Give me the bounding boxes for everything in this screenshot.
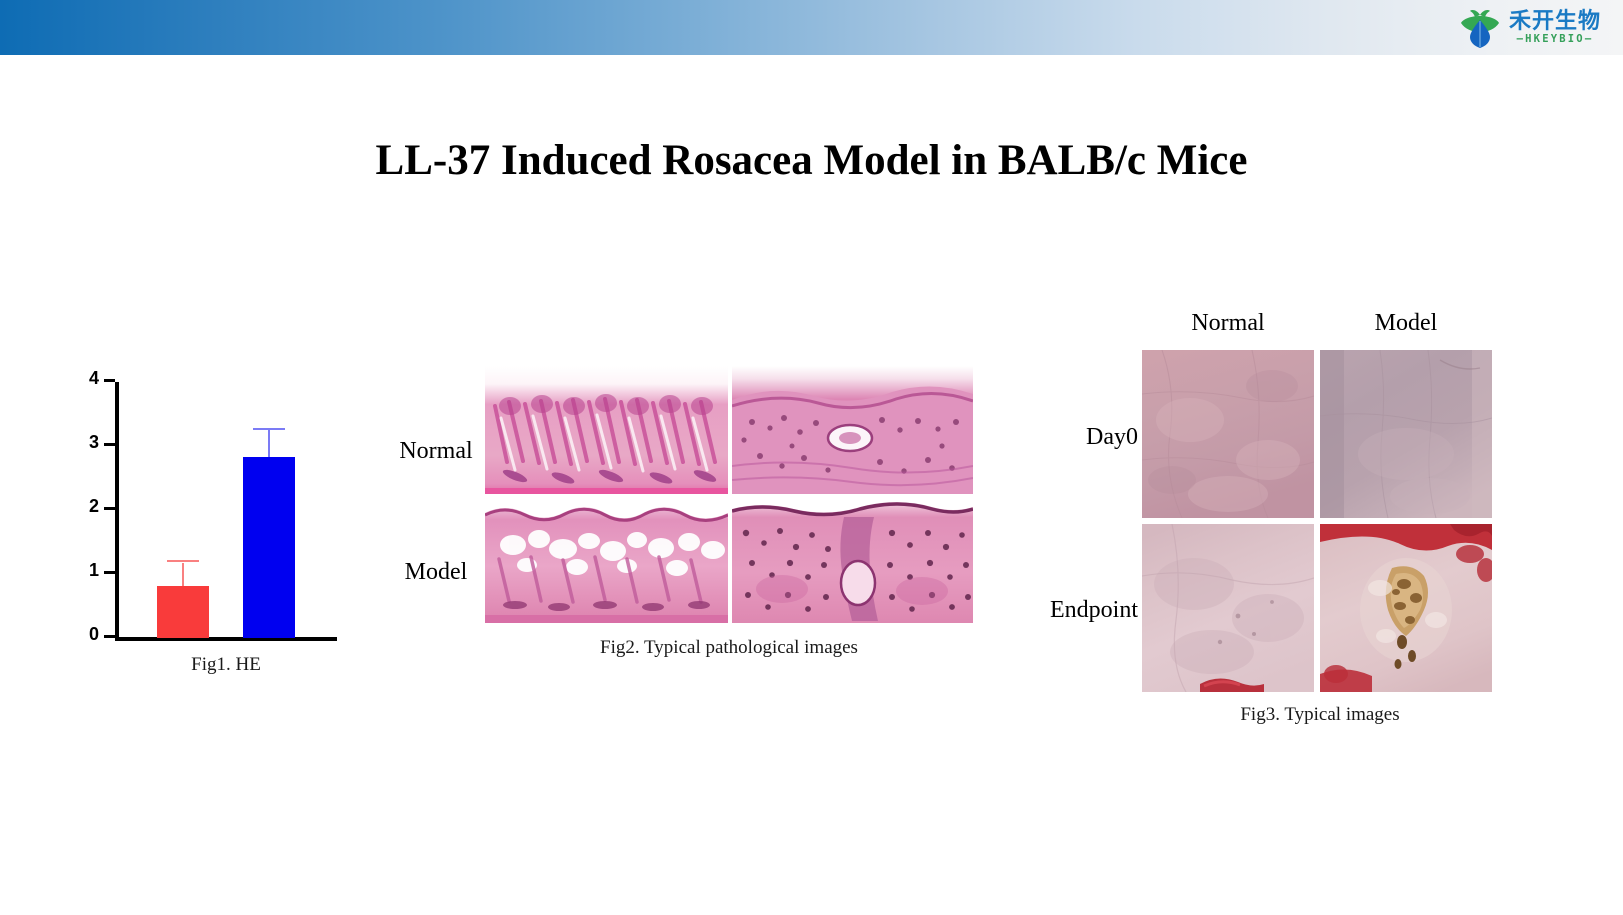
fig1-histopathology-chart: Histopathology Score 01234 Fig1. HE xyxy=(60,376,360,686)
fig2-caption: Fig2. Typical pathological images xyxy=(485,637,973,659)
fig2-image-normal-high-mag xyxy=(732,366,973,494)
chart-y-tick-label: 2 xyxy=(89,496,99,516)
fig3-col-label-model: Model xyxy=(1320,310,1492,337)
chart-y-tick: 1 xyxy=(104,571,115,574)
chart-y-tick: 3 xyxy=(104,443,115,446)
error-bar-cap xyxy=(253,428,285,431)
hkeybio-leaf-drop-icon xyxy=(1458,6,1502,50)
chart-y-tick: 2 xyxy=(104,507,115,510)
chart-y-tick-label: 4 xyxy=(89,368,99,388)
error-bar-stem xyxy=(182,563,184,586)
chart-bar-model xyxy=(243,382,295,638)
chart-plot-area: 01234 xyxy=(115,382,337,638)
chart-y-tick-label: 3 xyxy=(89,432,99,452)
fig3-image-model-day0 xyxy=(1320,350,1492,518)
fig2-row-label-normal: Normal xyxy=(390,438,482,465)
fig3-row-label-day0: Day0 xyxy=(1020,424,1138,451)
logo-chinese-text: 禾开生物 xyxy=(1509,11,1601,33)
fig2-pathology-panel: Normal Model xyxy=(390,366,990,666)
chart-bars xyxy=(119,382,337,638)
fig3-caption: Fig3. Typical images xyxy=(1142,704,1498,726)
chart-y-tick-label: 0 xyxy=(89,624,99,644)
error-bar-cap xyxy=(167,560,199,563)
fig3-photo-panel: Normal Model Day0 Endpoint xyxy=(1020,310,1520,730)
fig2-image-normal-low-mag xyxy=(485,366,728,494)
bar-rect xyxy=(157,586,209,638)
error-bar-stem xyxy=(268,430,270,457)
fig2-image-model-low-mag xyxy=(485,497,728,623)
fig3-col-label-normal: Normal xyxy=(1142,310,1314,337)
slide-title: LL-37 Induced Rosacea Model in BALB/c Mi… xyxy=(0,136,1623,185)
chart-y-tick-label: 1 xyxy=(89,560,99,580)
fig1-caption: Fig1. HE xyxy=(115,654,337,676)
fig3-row-label-endpoint: Endpoint xyxy=(1020,597,1138,624)
fig3-image-normal-endpoint xyxy=(1142,524,1314,692)
fig2-image-grid xyxy=(485,366,973,623)
chart-y-tick: 4 xyxy=(104,379,115,382)
fig3-image-normal-day0 xyxy=(1142,350,1314,518)
fig2-image-model-high-mag xyxy=(732,497,973,623)
chart-y-tick: 0 xyxy=(104,635,115,638)
logo-english-text: —HKEYBIO— xyxy=(1517,34,1594,45)
chart-bar-normal xyxy=(157,382,209,638)
fig2-row-label-model: Model xyxy=(390,559,482,586)
company-logo: 禾开生物 —HKEYBIO— xyxy=(1458,6,1601,50)
header-band: 禾开生物 —HKEYBIO— xyxy=(0,0,1623,55)
bar-rect xyxy=(243,457,295,638)
fig3-image-model-endpoint xyxy=(1320,524,1492,692)
